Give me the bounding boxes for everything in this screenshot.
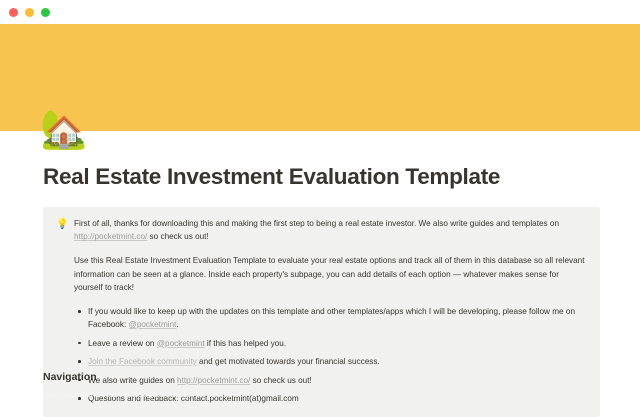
bullet-2-text-before: Leave a review on <box>88 339 157 348</box>
facebook-community-link[interactable]: Join the Facebook community <box>88 357 197 366</box>
window-minimize-button[interactable] <box>25 8 34 17</box>
navigation-heading: Navigation <box>43 371 97 383</box>
list-item: We also write guides on http://pocketmin… <box>74 374 586 387</box>
page-title: Real Estate Investment Evaluation Templa… <box>43 164 603 190</box>
page-content: 🏡 Real Estate Investment Evaluation Temp… <box>0 131 640 400</box>
facebook-pocketmint-link[interactable]: @pocketmint <box>129 320 177 329</box>
bullet-2-text-after: if this has helped you. <box>205 339 286 348</box>
bullet-3-text-after: and get motivated towards your financial… <box>197 357 380 366</box>
window-maximize-button[interactable] <box>41 8 50 17</box>
guides-site-link[interactable]: http://pocketmint.co/ <box>177 376 250 385</box>
window-close-button[interactable] <box>9 8 18 17</box>
callout-paragraph-2: Use this Real Estate Investment Evaluati… <box>74 254 586 294</box>
paragraph-1-text-before: First of all, thanks for downloading thi… <box>74 219 559 228</box>
light-bulb-icon: 💡 <box>56 217 74 231</box>
bullet-1-text-after: . <box>176 320 178 329</box>
page-cover-image[interactable] <box>0 24 640 131</box>
list-item: If you would like to keep up with the up… <box>74 305 586 331</box>
bullet-4-text-after: so check us out! <box>250 376 311 385</box>
pocketmint-site-link[interactable]: http://pocketmint.co/ <box>74 232 147 241</box>
paragraph-1-text-after: so check us out! <box>147 232 208 241</box>
callout-block: 💡 First of all, thanks for downloading t… <box>43 207 600 417</box>
list-item: Join the Facebook community and get moti… <box>74 355 586 368</box>
callout-paragraph-1: First of all, thanks for downloading thi… <box>74 217 586 243</box>
list-item: Leave a review on @pocketmint if this ha… <box>74 337 586 350</box>
window-titlebar <box>0 0 640 24</box>
navigation-row: Use the buttons below to navigate throug… <box>43 390 443 400</box>
callout-body: First of all, thanks for downloading thi… <box>74 217 586 405</box>
house-with-garden-icon[interactable]: 🏡 <box>40 107 86 153</box>
bullet-4-text-before: We also write guides on <box>88 376 177 385</box>
review-pocketmint-link[interactable]: @pocketmint <box>157 339 205 348</box>
